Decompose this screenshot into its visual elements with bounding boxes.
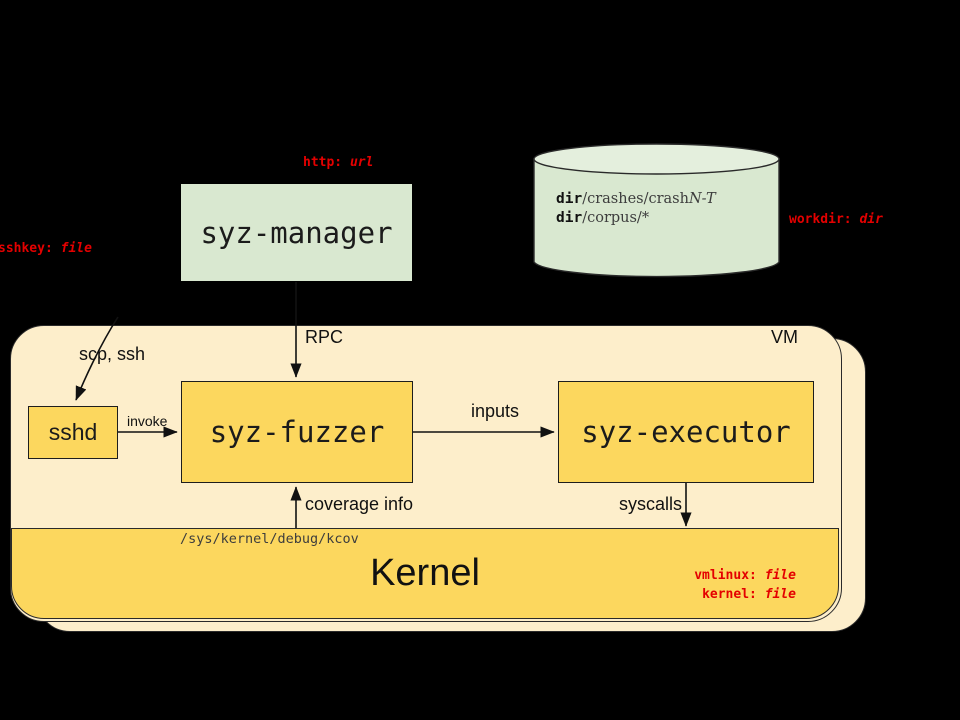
workdir-path-crashes: dir/crashes/crashN-T (556, 190, 771, 209)
syz-manager-box[interactable]: syz-manager (181, 184, 412, 281)
edge-label-invoke: invoke (127, 413, 167, 429)
annotation-http-flag: http: url (303, 155, 373, 170)
syz-fuzzer-label: syz-fuzzer (210, 415, 385, 449)
edge-label-syscalls: syscalls (619, 494, 682, 515)
annotation-vmlinux-flag: vmlinux: file (600, 566, 796, 585)
edge-label-rpc: RPC (305, 327, 343, 348)
syz-manager-label: syz-manager (200, 216, 392, 250)
edge-label-coverage-info: coverage info (305, 494, 413, 515)
workdir-path-list: dir/crashes/crashN-T dir/corpus/* (556, 190, 771, 228)
vm-label: VM (771, 327, 798, 348)
annotation-sshkey-flag: sshkey: file (0, 241, 92, 256)
edge-label-inputs: inputs (471, 401, 519, 422)
syz-executor-box[interactable]: syz-executor (558, 381, 814, 483)
annotation-workdir-flag: workdir: dir (789, 212, 883, 227)
workdir-path-corpus: dir/corpus/* (556, 209, 771, 228)
diagram-canvas: dir/crashes/crashN-T dir/corpus/* syz-ma… (0, 0, 960, 720)
syz-executor-label: syz-executor (581, 415, 791, 449)
annotation-kernel-flag: kernel: file (600, 585, 796, 604)
annotation-kernel-files: vmlinux: file kernel: file (600, 566, 796, 604)
edge-label-scp-ssh: scp, ssh (79, 344, 145, 365)
sshd-label: sshd (49, 419, 98, 446)
kcov-path-label: /sys/kernel/debug/kcov (180, 531, 359, 547)
sshd-box[interactable]: sshd (28, 406, 118, 459)
syz-fuzzer-box[interactable]: syz-fuzzer (181, 381, 413, 483)
